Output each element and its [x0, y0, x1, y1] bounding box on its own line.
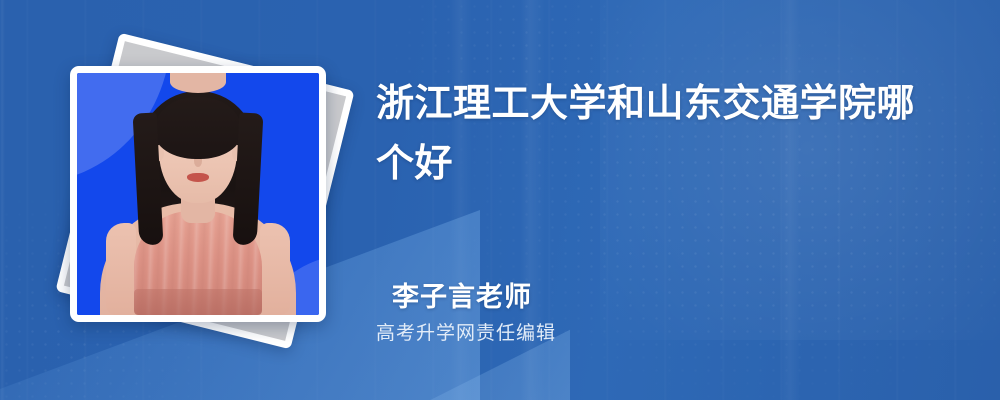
avatar: [77, 73, 319, 315]
photo-frame-front: [70, 66, 326, 322]
author-role: 高考升学网责任编辑: [376, 318, 556, 345]
article-cover-banner: 浙江理工大学和山东交通学院哪个好 李子言老师 高考升学网责任编辑: [0, 0, 1000, 400]
arm-right: [260, 223, 290, 315]
dress-collar: [170, 73, 226, 93]
page-title: 浙江理工大学和山东交通学院哪个好: [376, 74, 952, 194]
dress-waistband: [134, 289, 262, 315]
author-name: 李子言老师: [392, 275, 532, 314]
arm-left: [106, 223, 136, 315]
hair-front-icon: [154, 97, 242, 159]
lips: [187, 173, 209, 182]
author-photo-stack: [40, 38, 360, 358]
article-text-column: 浙江理工大学和山东交通学院哪个好 李子言老师 高考升学网责任编辑: [376, 0, 976, 400]
author-portrait-illustration: [77, 73, 319, 315]
